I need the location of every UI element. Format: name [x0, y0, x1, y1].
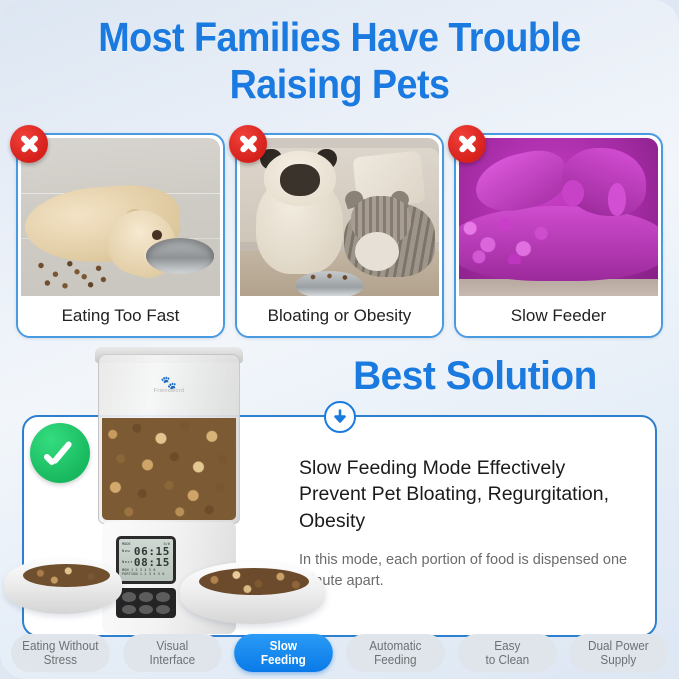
- page-title-line1: Most Families Have Trouble: [27, 14, 652, 61]
- bowl-food: [23, 564, 110, 588]
- problem-card-image: [459, 138, 658, 300]
- lcd-now-label: Now: [122, 546, 130, 557]
- feature-pill-automatic-feeding[interactable]: AutomaticFeeding: [346, 634, 444, 672]
- feature-pill-bar: Eating WithoutStress VisualInterface Slo…: [8, 633, 671, 673]
- bowl-food: [199, 568, 309, 595]
- problem-card[interactable]: Slow Feeder: [454, 133, 663, 338]
- feature-pill-dual-power-supply[interactable]: Dual PowerSupply: [569, 634, 667, 672]
- lcd-display: MODE 5/6 Now 06:15 Next 08:15 MON 1 2 3 …: [116, 536, 176, 584]
- kibble-fill: [102, 418, 236, 520]
- page-title: Most Families Have Trouble Raising Pets: [27, 14, 652, 107]
- problem-card-label: Bloating or Obesity: [237, 296, 442, 336]
- control-button[interactable]: [156, 605, 170, 615]
- paw-print-icon: 🐾: [99, 377, 239, 388]
- control-button[interactable]: [139, 592, 153, 602]
- lcd-next-value: 08:15: [134, 557, 170, 568]
- pet-feeder-device: 🐾 Friendword MODE 5/6 Now 06:15 Next: [62, 340, 312, 645]
- feature-pill-easy-to-clean[interactable]: Easyto Clean: [458, 634, 556, 672]
- control-button[interactable]: [156, 592, 170, 602]
- control-button[interactable]: [122, 592, 136, 602]
- feature-pill-slow-feeding[interactable]: SlowFeeding: [234, 634, 332, 672]
- infographic-page: Most Families Have Trouble Raising Pets …: [0, 0, 679, 679]
- feature-pill-eating-without-stress[interactable]: Eating WithoutStress: [11, 634, 109, 672]
- page-title-line2: Raising Pets: [27, 61, 652, 108]
- solution-text-block: Slow Feeding Mode Effectively Prevent Pe…: [299, 455, 637, 592]
- x-mark-icon: [229, 125, 267, 163]
- brand-name: Friendword: [154, 388, 185, 394]
- x-mark-icon: [10, 125, 48, 163]
- lcd-portion-row: PORTION 1 2 3 4 5 6: [122, 572, 170, 576]
- feature-pill-visual-interface[interactable]: VisualInterface: [123, 634, 221, 672]
- problem-card-label: Slow Feeder: [456, 296, 661, 336]
- brand-logo: 🐾 Friendword: [99, 377, 239, 394]
- control-button-pad[interactable]: [116, 588, 176, 618]
- feeding-bowl-left: [4, 558, 122, 614]
- lcd-next-label: Next: [122, 557, 133, 568]
- best-solution-heading: Best Solution: [296, 354, 655, 399]
- problem-card[interactable]: Bloating or Obesity: [235, 133, 444, 338]
- solution-headline: Slow Feeding Mode Effectively Prevent Pe…: [299, 455, 637, 534]
- problem-card[interactable]: Eating Too Fast: [16, 133, 225, 338]
- feeder-hopper: 🐾 Friendword: [98, 354, 240, 524]
- control-button[interactable]: [122, 605, 136, 615]
- control-button[interactable]: [139, 605, 153, 615]
- problem-card-image: [240, 138, 439, 300]
- arrow-down-icon: [324, 401, 356, 433]
- x-mark-icon: [448, 125, 486, 163]
- problem-card-list: Eating Too Fast Bloating or Obesity Slow…: [16, 133, 663, 338]
- solution-subtext: In this mode, each portion of food is di…: [299, 550, 637, 592]
- problem-card-image: [21, 138, 220, 300]
- feeding-bowl-right: [180, 562, 325, 624]
- problem-card-label: Eating Too Fast: [18, 296, 223, 336]
- check-mark-icon: [30, 423, 90, 483]
